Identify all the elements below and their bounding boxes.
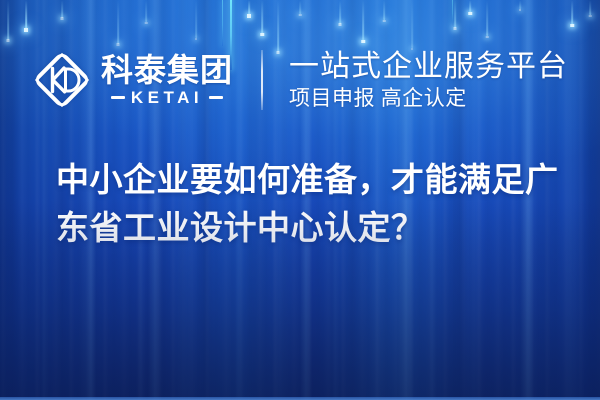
tagline-sub: 项目申报 高企认定	[289, 86, 568, 110]
cyan-accent-line	[452, 0, 453, 26]
brand-wordmark: 科泰集团 KETAI	[101, 54, 233, 107]
tagline-main: 一站式企业服务平台	[289, 50, 568, 84]
brand-name-en: KETAI	[131, 89, 203, 106]
header-divider	[261, 50, 263, 110]
wordmark-dash-right	[209, 96, 223, 99]
promo-banner: 科泰集团 KETAI 一站式企业服务平台 项目申报 高企认定 中小企业要如何准备…	[0, 0, 600, 400]
banner-header: 科泰集团 KETAI 一站式企业服务平台 项目申报 高企认定	[0, 40, 600, 120]
brand-logo[interactable]: 科泰集团 KETAI	[32, 50, 233, 110]
tagline-block: 一站式企业服务平台 项目申报 高企认定	[289, 50, 568, 111]
brand-name-en-row: KETAI	[111, 89, 223, 106]
wordmark-dash-left	[111, 96, 125, 99]
background-bottom-shade	[0, 200, 600, 400]
brand-name-cn: 科泰集团	[101, 54, 233, 88]
ketai-diamond-monogram-icon	[32, 50, 92, 110]
